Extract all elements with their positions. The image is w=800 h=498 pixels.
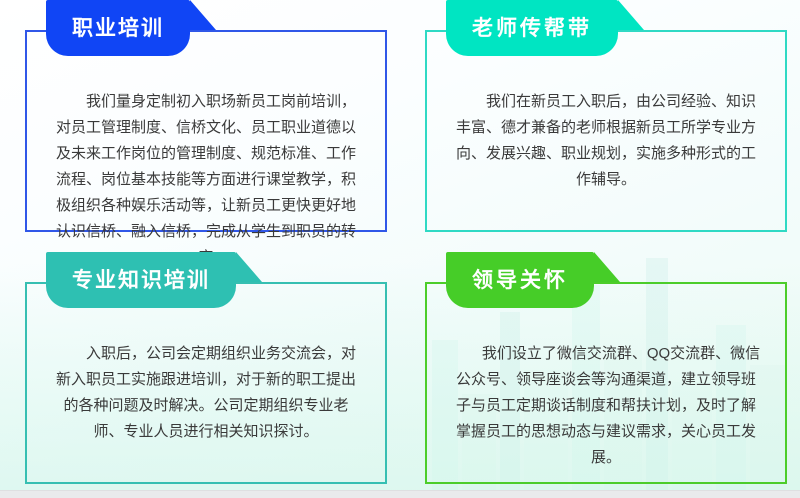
tab-fold-triangle-icon — [236, 252, 262, 282]
tab-fold-triangle-icon — [190, 0, 216, 30]
card-title: 专业知识培训 — [72, 270, 210, 291]
card-mentor-program: 老师传帮带 我们在新员工入职后，由公司经验、知识丰富、德才兼备的老师根据新员工所… — [425, 0, 787, 232]
card-career-training: 职业培训 我们量身定制初入职场新员工岗前培训，对员工管理制度、信桥文化、员工职业… — [25, 0, 387, 232]
card-title: 职业培训 — [72, 18, 164, 39]
card-title: 老师传帮带 — [472, 18, 592, 39]
card-leadership-care: 领导关怀 我们设立了微信交流群、QQ交流群、微信公众号、领导座谈会等沟通渠道，建… — [425, 252, 787, 484]
tab-fold-triangle-icon — [618, 0, 644, 30]
card-title-tab[interactable]: 领导关怀 — [446, 252, 594, 308]
card-title: 领导关怀 — [472, 270, 568, 291]
card-body-text: 入职后，公司会定期组织业务交流会，对新入职员工实施跟进培训，对于新的职工提出的各… — [49, 341, 363, 445]
bottom-edge-strip — [0, 490, 800, 498]
card-body-text: 我们在新员工入职后，由公司经验、知识丰富、德才兼备的老师根据新员工所学专业方向、… — [449, 89, 763, 193]
card-body-text: 我们量身定制初入职场新员工岗前培训，对员工管理制度、信桥文化、员工职业道德以及未… — [49, 89, 363, 271]
card-title-tab[interactable]: 职业培训 — [46, 0, 190, 56]
card-grid: 职业培训 我们量身定制初入职场新员工岗前培训，对员工管理制度、信桥文化、员工职业… — [0, 0, 800, 498]
card-body-text: 我们设立了微信交流群、QQ交流群、微信公众号、领导座谈会等沟通渠道，建立领导班子… — [449, 341, 763, 471]
card-title-tab[interactable]: 专业知识培训 — [46, 252, 236, 308]
card-professional-knowledge-training: 专业知识培训 入职后，公司会定期组织业务交流会，对新入职员工实施跟进培训，对于新… — [25, 252, 387, 484]
tab-fold-triangle-icon — [594, 252, 620, 282]
page-root: 职业培训 我们量身定制初入职场新员工岗前培训，对员工管理制度、信桥文化、员工职业… — [0, 0, 800, 498]
card-title-tab[interactable]: 老师传帮带 — [446, 0, 618, 56]
